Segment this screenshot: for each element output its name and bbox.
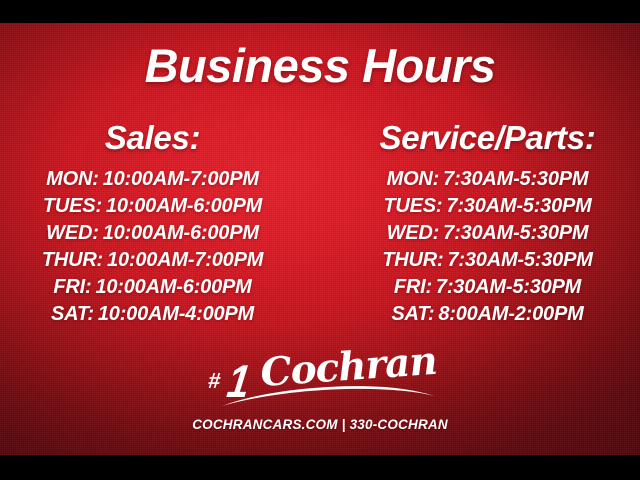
list-item: TUES:7:30AM-5:30PM [335,193,640,220]
hours-columns: Sales: MON:10:00AM-7:00PM TUES:10:00AM-6… [0,120,640,328]
list-item: TUES:10:00AM-6:00PM [0,193,305,220]
hours-value: 10:00AM-7:00PM [103,168,259,190]
list-item: SAT:8:00AM-2:00PM [335,301,640,328]
hours-value: 7:30AM-5:30PM [443,222,588,244]
service-parts-hours-list: MON:7:30AM-5:30PM TUES:7:30AM-5:30PM WED… [335,166,640,328]
page-title: Business Hours [0,42,640,89]
hours-value: 10:00AM-7:00PM [107,249,263,271]
day-label: SAT: [391,303,434,325]
hours-value: 7:30AM-5:30PM [443,168,588,190]
hours-value: 10:00AM-6:00PM [103,222,259,244]
list-item: FRI:10:00AM-6:00PM [0,274,305,301]
hours-value: 7:30AM-5:30PM [446,195,591,217]
sales-hours-list: MON:10:00AM-7:00PM TUES:10:00AM-6:00PM W… [0,166,305,328]
day-label: SAT: [51,303,94,325]
list-item: FRI:7:30AM-5:30PM [335,274,640,301]
brand-logo: # 1 Cochran COCHRANCARS.COM | 330-COCHRA… [0,352,640,432]
list-item: THUR:7:30AM-5:30PM [335,247,640,274]
hours-value: 10:00AM-4:00PM [98,303,254,325]
day-label: MON: [387,168,440,190]
list-item: THUR:10:00AM-7:00PM [0,247,305,274]
hours-value: 8:00AM-2:00PM [438,303,583,325]
day-label: FRI: [394,276,432,298]
hours-value: 7:30AM-5:30PM [447,249,592,271]
service-parts-column: Service/Parts: MON:7:30AM-5:30PM TUES:7:… [321,120,640,328]
day-label: WED: [46,222,99,244]
logo-tagline: COCHRANCARS.COM | 330-COCHRAN [0,417,640,432]
day-label: WED: [387,222,440,244]
day-label: THUR: [42,249,103,271]
list-item: MON:10:00AM-7:00PM [0,166,305,193]
sales-column: Sales: MON:10:00AM-7:00PM TUES:10:00AM-6… [0,120,321,328]
day-label: FRI: [53,276,91,298]
hours-value: 10:00AM-6:00PM [106,195,262,217]
day-label: THUR: [382,249,443,271]
service-parts-column-heading: Service/Parts: [335,120,640,156]
list-item: SAT:10:00AM-4:00PM [0,301,305,328]
sales-column-heading: Sales: [0,120,305,156]
day-label: TUES: [43,195,102,217]
cochran-logo-mark: # 1 Cochran [202,352,438,408]
hours-value: 10:00AM-6:00PM [95,276,251,298]
day-label: TUES: [383,195,442,217]
swoosh-underline-icon [220,386,436,408]
hours-value: 7:30AM-5:30PM [436,276,581,298]
business-hours-slide: Business Hours Sales: MON:10:00AM-7:00PM… [0,0,640,480]
list-item: WED:7:30AM-5:30PM [335,220,640,247]
list-item: WED:10:00AM-6:00PM [0,220,305,247]
list-item: MON:7:30AM-5:30PM [335,166,640,193]
day-label: MON: [46,168,99,190]
